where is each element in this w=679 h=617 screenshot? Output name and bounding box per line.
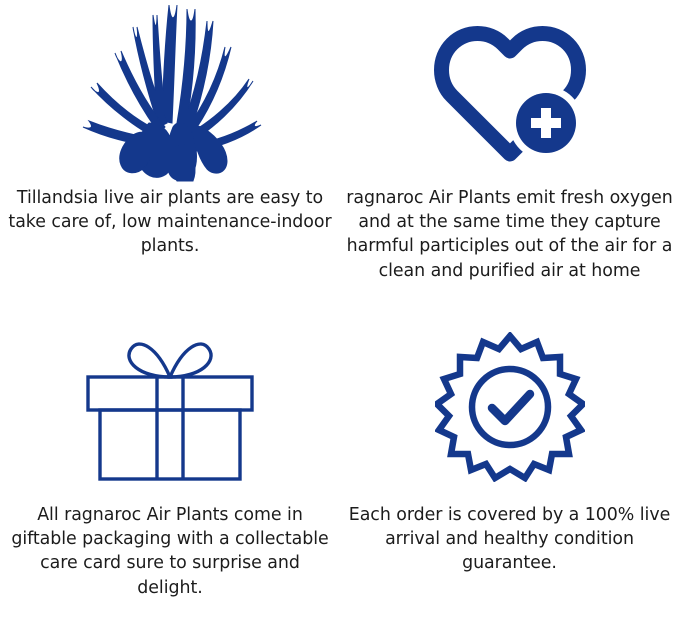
icon-container bbox=[340, 311, 679, 503]
benefit-card-packaging: All ragnaroc Air Plants come in giftable… bbox=[0, 308, 340, 617]
guarantee-badge-icon bbox=[435, 332, 585, 482]
air-plant-icon bbox=[77, 3, 263, 183]
icon-container bbox=[0, 311, 340, 503]
gift-box-icon bbox=[77, 329, 263, 485]
benefit-text: Tillandsia live air plants are easy to t… bbox=[0, 186, 340, 259]
benefit-text: Each order is covered by a 100% live arr… bbox=[345, 503, 675, 576]
heart-plus-icon bbox=[434, 22, 586, 164]
benefits-grid: Tillandsia live air plants are easy to t… bbox=[0, 0, 679, 617]
benefit-text: ragnaroc Air Plants emit fresh oxygen an… bbox=[344, 186, 676, 283]
benefit-card-air-plant: Tillandsia live air plants are easy to t… bbox=[0, 0, 340, 308]
icon-container bbox=[0, 0, 340, 186]
icon-container bbox=[340, 0, 679, 186]
benefit-card-guarantee: Each order is covered by a 100% live arr… bbox=[340, 308, 679, 617]
benefit-text: All ragnaroc Air Plants come in giftable… bbox=[7, 503, 333, 600]
benefit-card-oxygen: ragnaroc Air Plants emit fresh oxygen an… bbox=[340, 0, 679, 308]
